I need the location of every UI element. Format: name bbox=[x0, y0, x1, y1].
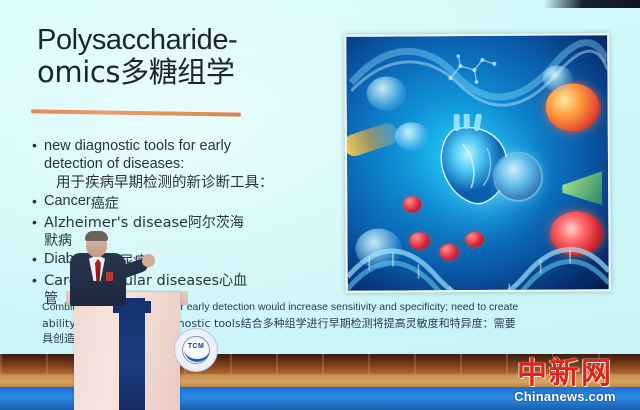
bullet-text-group: new diagnostic tools for early detection… bbox=[44, 137, 231, 173]
bullet-text-en: Alzheimer's disease bbox=[44, 215, 188, 231]
cell-cluster-icon bbox=[395, 122, 429, 150]
dna-helix-icon bbox=[347, 231, 608, 293]
speaker-hand bbox=[142, 254, 155, 267]
bullet-text-en: Cancer bbox=[44, 193, 91, 210]
slide-title: Polysaccharide- omics多糖组学 bbox=[37, 24, 337, 88]
bullet-marker: • bbox=[32, 193, 44, 210]
bullet-text-cn: 癌症 bbox=[91, 193, 119, 213]
bullet-marker: • bbox=[32, 251, 44, 268]
cell-cluster-icon bbox=[542, 65, 572, 91]
bullet-text-cn: 阿尔茨海 bbox=[188, 215, 244, 231]
podium-emblem: TCM bbox=[174, 328, 218, 372]
bullet-marker: • bbox=[32, 214, 44, 231]
syringe-icon bbox=[344, 120, 401, 159]
biomedical-illustration bbox=[344, 33, 611, 293]
podium-stripe bbox=[119, 298, 145, 410]
speaker bbox=[58, 232, 154, 306]
list-item: • new diagnostic tools for early detecti… bbox=[32, 137, 332, 173]
screenshot-root: Polysaccharide- omics多糖组学 • new diagnost… bbox=[0, 0, 640, 410]
cell-cluster-icon bbox=[366, 76, 406, 110]
virus-cell-icon bbox=[495, 154, 541, 200]
bullet-text-cn: 心血 bbox=[219, 273, 247, 289]
bullet-text-en: new diagnostic tools for early bbox=[44, 138, 231, 154]
watermark: 中新网 Chinanews.com bbox=[500, 359, 630, 404]
molecule-diagram-icon bbox=[442, 52, 502, 92]
watermark-chinese: 中新网 bbox=[500, 359, 630, 389]
speaker-hair bbox=[85, 231, 108, 241]
slide-title-line-1: Polysaccharide- bbox=[37, 24, 337, 56]
bullet-text-cn: 用于疾病早期检测的新诊断工具： bbox=[32, 174, 332, 193]
red-blood-cell-icon bbox=[403, 196, 421, 212]
bullet-marker: • bbox=[32, 137, 44, 154]
watermark-latin: Chinanews.com bbox=[500, 389, 630, 404]
projection-corner-shadow bbox=[544, 0, 640, 8]
slide-title-line-2: omics多糖组学 bbox=[37, 56, 337, 88]
title-underline-rule bbox=[31, 109, 241, 116]
flask-icon bbox=[562, 171, 602, 205]
bullet-text-en-cont: detection of diseases: bbox=[44, 156, 184, 172]
bullet-marker: • bbox=[32, 272, 44, 289]
list-item: • Cancer 癌症 bbox=[32, 193, 332, 213]
speaker-badge bbox=[106, 272, 113, 281]
emblem-arc-icon bbox=[184, 349, 210, 362]
